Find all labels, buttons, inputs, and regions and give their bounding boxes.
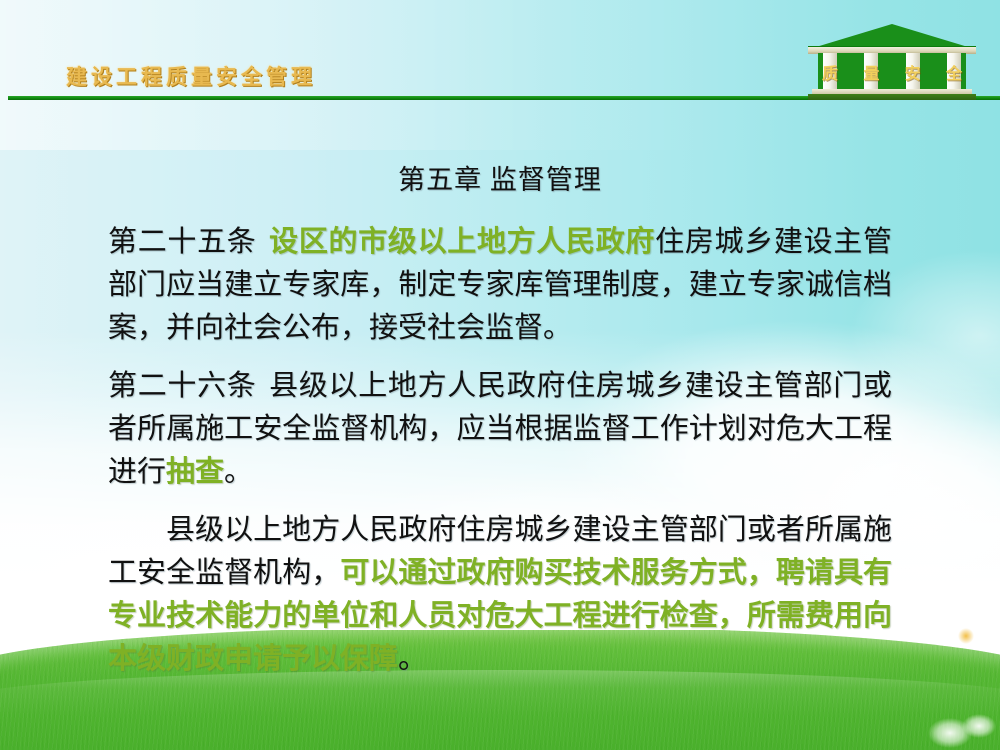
highlighted-text: 设区的市级以上地方人民政府	[268, 226, 655, 258]
grass-tuft-icon	[962, 714, 996, 738]
body-text: 第二十六条	[108, 370, 256, 402]
logo-char: 全	[946, 60, 962, 84]
logo-text: 质 量 安 全	[822, 60, 962, 84]
slide-content: 第五章 监督管理 第二十五条设区的市级以上地方人民政府住房城乡建设主管部门应当建…	[108, 158, 892, 681]
page-title: 建设工程质量安全管理	[66, 61, 316, 91]
body-text: 第二十五条	[108, 226, 256, 258]
chapter-title: 第五章 监督管理	[108, 158, 892, 197]
logo-plinth	[808, 94, 976, 100]
paragraph-article-26: 第二十六条县级以上地方人民政府住房城乡建设主管部门或者所属施工安全监督机构，应当…	[108, 365, 892, 494]
quality-safety-temple-logo: 质 量 安 全	[808, 24, 976, 100]
logo-char: 安	[905, 60, 921, 84]
highlighted-text: 抽查	[166, 456, 224, 488]
slide-root: 建设工程质量安全管理 质 量 安 全 第五章 监督管理 第二十五条设区的市级以上…	[0, 0, 1000, 750]
gold-sprig-icon	[958, 628, 974, 644]
paragraph-list: 第二十五条设区的市级以上地方人民政府住房城乡建设主管部门应当建立专家库，制定专家…	[108, 221, 892, 681]
paragraph-article-26-para-2: 县级以上地方人民政府住房城乡建设主管部门或者所属施工安全监督机构，可以通过政府购…	[108, 509, 892, 681]
paragraph-article-25: 第二十五条设区的市级以上地方人民政府住房城乡建设主管部门应当建立专家库，制定专家…	[108, 221, 892, 350]
logo-char: 量	[863, 60, 879, 84]
logo-char: 质	[822, 60, 838, 84]
body-text: 。	[398, 643, 427, 675]
body-text: 。	[224, 456, 253, 488]
logo-pediment-icon	[816, 24, 968, 47]
